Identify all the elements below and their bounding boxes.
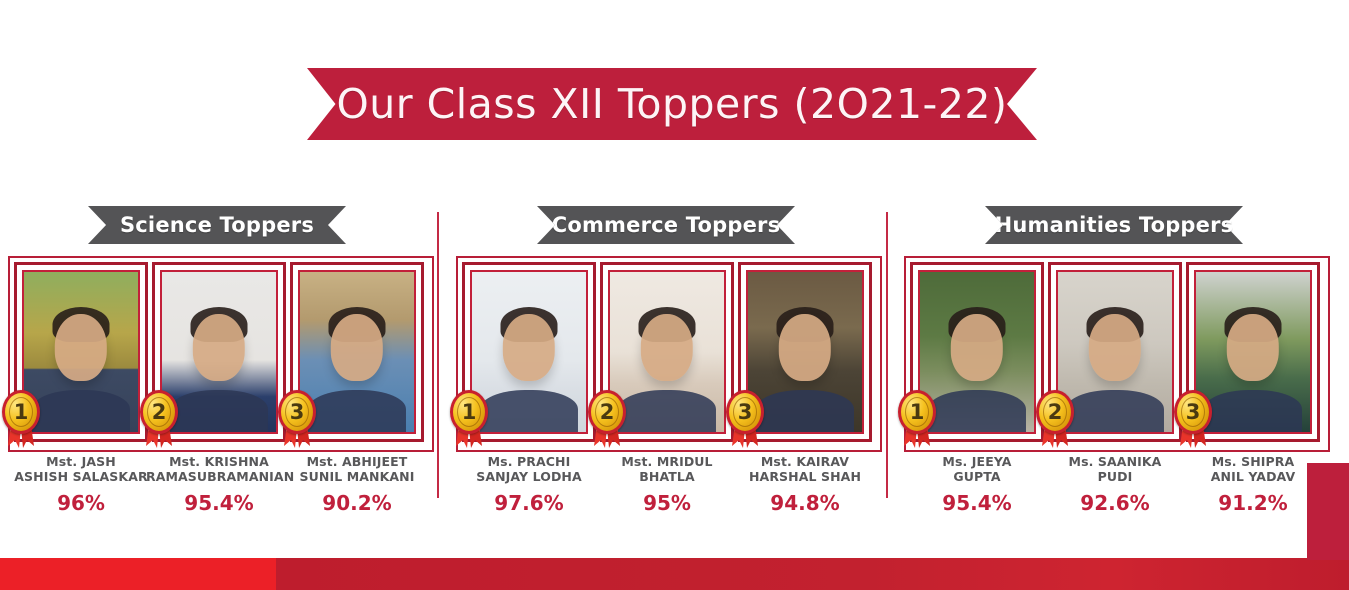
section-header-science: Science Toppers bbox=[88, 206, 346, 244]
portrait-head-shape bbox=[503, 314, 555, 381]
section-header-commerce: Commerce Toppers bbox=[537, 206, 795, 244]
student-name: Ms. PRACHI SANJAY LODHA bbox=[456, 454, 602, 484]
portrait-body-shape bbox=[170, 390, 268, 432]
toppers-poster: Our Class XII Toppers (2O21-22) Science … bbox=[0, 0, 1349, 590]
student-photo bbox=[748, 272, 862, 432]
medal-disc: 3 bbox=[278, 390, 316, 434]
student-name: Mst. MRIDUL BHATLA bbox=[594, 454, 740, 484]
medal-disc: 1 bbox=[450, 390, 488, 434]
medal-rank-number: 1 bbox=[14, 402, 29, 423]
portrait-body-shape bbox=[1066, 390, 1164, 432]
topper-caption: Ms. SAANIKA PUDI92.6% bbox=[1042, 454, 1188, 513]
student-percentage: 96% bbox=[8, 493, 154, 513]
student-name: Mst. KAIRAV HARSHAL SHAH bbox=[732, 454, 878, 484]
medal-disc: 2 bbox=[140, 390, 178, 434]
portrait-head-shape bbox=[951, 314, 1003, 381]
student-photo bbox=[24, 272, 138, 432]
student-name: Ms. JEEYA GUPTA bbox=[904, 454, 1050, 484]
student-photo bbox=[472, 272, 586, 432]
medal-rank-number: 3 bbox=[1186, 402, 1201, 423]
topper-caption: Mst. ABHIJEET SUNIL MANKANI90.2% bbox=[284, 454, 430, 513]
medal-disc: 3 bbox=[1174, 390, 1212, 434]
rank-medal-icon: 1 bbox=[2, 390, 40, 452]
section-divider-2 bbox=[886, 212, 888, 498]
rank-medal-icon: 2 bbox=[588, 390, 626, 452]
footer-bar-dark bbox=[276, 558, 1349, 590]
student-photo bbox=[162, 272, 276, 432]
rank-medal-icon: 3 bbox=[726, 390, 764, 452]
student-percentage: 94.8% bbox=[732, 493, 878, 513]
topper-caption: Mst. KRISHNA RAMASUBRAMANIAN95.4% bbox=[146, 454, 292, 513]
student-percentage: 95.4% bbox=[146, 493, 292, 513]
portrait-head-shape bbox=[193, 314, 245, 381]
student-photo bbox=[300, 272, 414, 432]
footer-bar-bright bbox=[0, 558, 276, 590]
portrait-body-shape bbox=[308, 390, 406, 432]
section-heading-label: Humanities Toppers bbox=[995, 213, 1234, 237]
student-percentage: 95.4% bbox=[904, 493, 1050, 513]
medal-disc: 1 bbox=[898, 390, 936, 434]
portrait-body-shape bbox=[480, 390, 578, 432]
portrait-head-shape bbox=[1227, 314, 1279, 381]
student-percentage: 97.6% bbox=[456, 493, 602, 513]
student-photo bbox=[610, 272, 724, 432]
medal-rank-number: 1 bbox=[910, 402, 925, 423]
topper-caption: Mst. MRIDUL BHATLA95% bbox=[594, 454, 740, 513]
medal-rank-number: 1 bbox=[462, 402, 477, 423]
student-photo bbox=[1058, 272, 1172, 432]
rank-medal-icon: 2 bbox=[140, 390, 178, 452]
portrait-body-shape bbox=[1204, 390, 1302, 432]
page-title-ribbon: Our Class XII Toppers (2O21-22) bbox=[307, 68, 1037, 140]
student-name: Mst. KRISHNA RAMASUBRAMANIAN bbox=[146, 454, 292, 484]
portrait-head-shape bbox=[641, 314, 693, 381]
medal-rank-number: 2 bbox=[1048, 402, 1063, 423]
medal-disc: 3 bbox=[726, 390, 764, 434]
rank-medal-icon: 3 bbox=[1174, 390, 1212, 452]
topper-caption: Mst. KAIRAV HARSHAL SHAH94.8% bbox=[732, 454, 878, 513]
student-percentage: 95% bbox=[594, 493, 740, 513]
section-header-humanities: Humanities Toppers bbox=[985, 206, 1243, 244]
topper-caption: Ms. PRACHI SANJAY LODHA97.6% bbox=[456, 454, 602, 513]
medal-disc: 1 bbox=[2, 390, 40, 434]
rank-medal-icon: 1 bbox=[450, 390, 488, 452]
student-name: Mst. ABHIJEET SUNIL MANKANI bbox=[284, 454, 430, 484]
page-title: Our Class XII Toppers (2O21-22) bbox=[336, 80, 1007, 128]
topper-caption: Ms. SHIPRA ANIL YADAV91.2% bbox=[1180, 454, 1326, 513]
student-name: Mst. JASH ASHISH SALASKAR bbox=[8, 454, 154, 484]
section-heading-label: Science Toppers bbox=[120, 213, 314, 237]
portrait-head-shape bbox=[55, 314, 107, 381]
section-heading-label: Commerce Toppers bbox=[552, 213, 781, 237]
medal-disc: 2 bbox=[588, 390, 626, 434]
portrait-body-shape bbox=[32, 390, 130, 432]
medal-disc: 2 bbox=[1036, 390, 1074, 434]
topper-caption: Mst. JASH ASHISH SALASKAR96% bbox=[8, 454, 154, 513]
portrait-body-shape bbox=[756, 390, 854, 432]
portrait-head-shape bbox=[1089, 314, 1141, 381]
portrait-body-shape bbox=[928, 390, 1026, 432]
rank-medal-icon: 1 bbox=[898, 390, 936, 452]
student-name: Ms. SAANIKA PUDI bbox=[1042, 454, 1188, 484]
portrait-body-shape bbox=[618, 390, 716, 432]
rank-medal-icon: 2 bbox=[1036, 390, 1074, 452]
medal-rank-number: 2 bbox=[600, 402, 615, 423]
student-percentage: 91.2% bbox=[1180, 493, 1326, 513]
section-divider-1 bbox=[437, 212, 439, 498]
student-photo bbox=[1196, 272, 1310, 432]
rank-medal-icon: 3 bbox=[278, 390, 316, 452]
medal-rank-number: 2 bbox=[152, 402, 167, 423]
portrait-head-shape bbox=[779, 314, 831, 381]
medal-rank-number: 3 bbox=[738, 402, 753, 423]
student-percentage: 92.6% bbox=[1042, 493, 1188, 513]
topper-caption: Ms. JEEYA GUPTA95.4% bbox=[904, 454, 1050, 513]
medal-rank-number: 3 bbox=[290, 402, 305, 423]
student-name: Ms. SHIPRA ANIL YADAV bbox=[1180, 454, 1326, 484]
portrait-head-shape bbox=[331, 314, 383, 381]
student-percentage: 90.2% bbox=[284, 493, 430, 513]
student-photo bbox=[920, 272, 1034, 432]
